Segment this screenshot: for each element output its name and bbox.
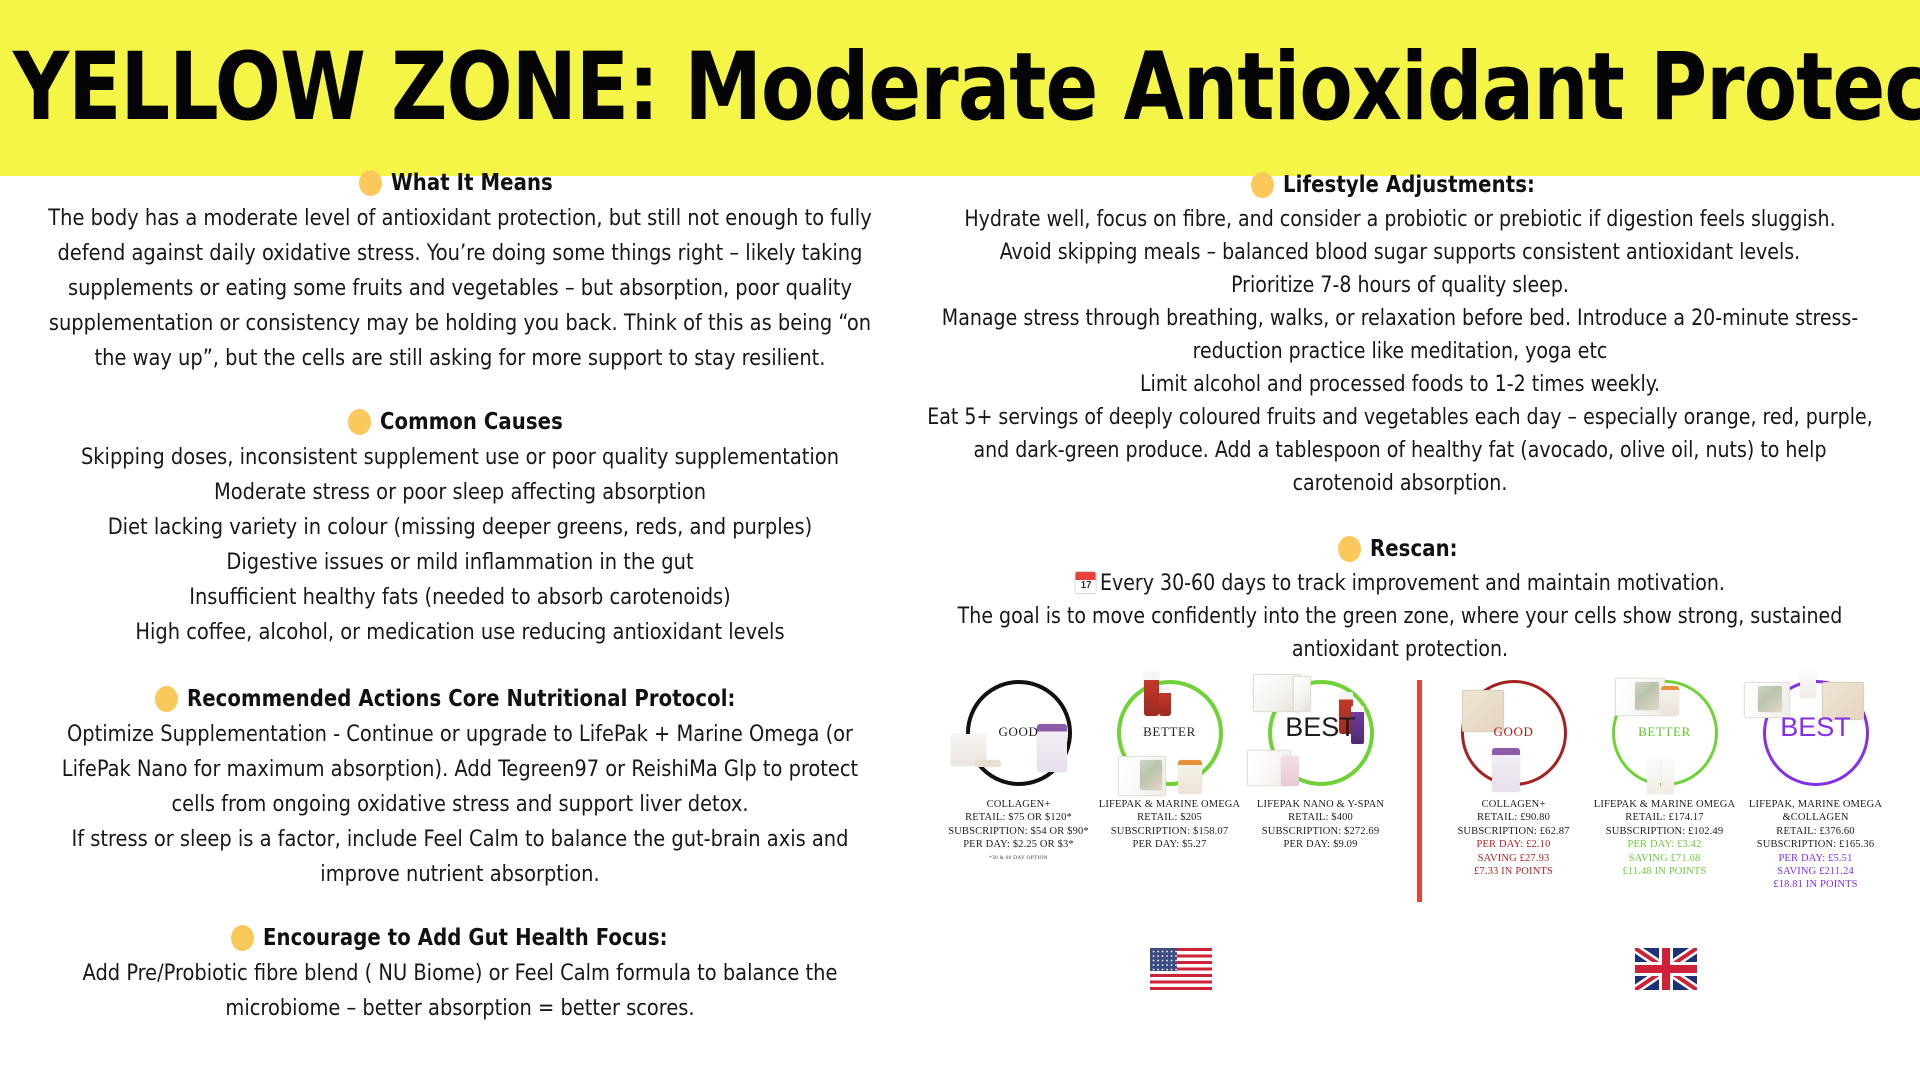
section-title: Encourage to Add Gut Health Focus:	[263, 925, 668, 951]
section-header: Recommended Actions Core Nutritional Pro…	[30, 686, 890, 712]
calendar-day: 17	[1076, 579, 1096, 592]
section-body: 17 Every 30-60 days to track improvement…	[920, 567, 1880, 666]
paragraph: Eat 5+ servings of deeply coloured fruit…	[920, 401, 1880, 500]
product-details: LIFEPAK & MARINE OMEGA RETAIL: $205 SUBS…	[1096, 798, 1243, 852]
section-header: Lifestyle Adjustments:	[900, 172, 1900, 198]
page-title: YELLOW ZONE: Moderate Antioxidant Protec…	[0, 41, 1920, 135]
product-points: £11.48 IN POINTS	[1591, 865, 1738, 878]
paragraph: Hydrate well, focus on fibre, and consid…	[920, 203, 1880, 236]
us-flag-icon	[1150, 948, 1212, 990]
section-rescan: Rescan: 17 Every 30-60 days to track imp…	[900, 536, 1900, 666]
tier-label: BEST	[1247, 712, 1394, 743]
poster-root: YELLOW ZONE: Moderate Antioxidant Protec…	[0, 0, 1920, 1080]
section-title: What It Means	[391, 170, 553, 196]
region-divider	[1417, 680, 1422, 902]
product-card[interactable]: BEST LIFEPAK NANO & Y-SPAN RETAIL: $400 …	[1247, 672, 1394, 865]
product-points: £7.33 IN POINTS	[1440, 865, 1587, 878]
paragraph: Optimize Supplementation - Continue or u…	[47, 717, 873, 822]
product-saving: SAVING £27.93	[1440, 852, 1587, 865]
bullet-dot-icon	[359, 170, 382, 196]
product-retail: RETAIL: $400	[1247, 811, 1394, 824]
tier-label: GOOD	[945, 724, 1092, 740]
paragraph-with-calendar: 17 Every 30-60 days to track improvement…	[920, 567, 1880, 600]
bullet-dot-icon	[348, 409, 371, 435]
paragraph: Prioritize 7-8 hours of quality sleep.	[920, 269, 1880, 302]
right-column: Lifestyle Adjustments: Hydrate well, foc…	[900, 176, 1900, 666]
product-name: LIFEPAK, MARINE OMEGA &COLLAGEN	[1742, 798, 1889, 825]
section-lifestyle-adjustments: Lifestyle Adjustments: Hydrate well, foc…	[900, 172, 1900, 500]
product-subscription: SUBSCRIPTION: $272.69	[1247, 825, 1394, 838]
section-header: Common Causes	[30, 409, 890, 435]
tier-label: GOOD	[1440, 724, 1587, 740]
product-subscription: SUBSCRIPTION: £102.49	[1591, 825, 1738, 838]
product-subscription: SUBSCRIPTION: $158.07	[1096, 825, 1243, 838]
section-body: Skipping doses, inconsistent supplement …	[47, 440, 873, 650]
product-card[interactable]: GOOD COLLAGEN+ RETAIL: $75 OR $120* SUBS…	[945, 672, 1092, 865]
paragraph: Manage stress through breathing, walks, …	[920, 302, 1880, 368]
tier-label: BETTER	[1096, 724, 1243, 740]
product-region-uk: GOOD COLLAGEN+ RETAIL: £90.80 SUBSCRIPTI…	[1440, 672, 1895, 892]
bullet-dot-icon	[155, 686, 178, 712]
bullet-dot-icon	[231, 925, 254, 951]
product-retail: RETAIL: $205	[1096, 811, 1243, 824]
product-subscription: SUBSCRIPTION: £165.36	[1742, 838, 1889, 851]
product-image: BETTER	[1591, 672, 1738, 794]
product-details: LIFEPAK, MARINE OMEGA &COLLAGEN RETAIL: …	[1742, 798, 1889, 892]
product-details: COLLAGEN+ RETAIL: $75 OR $120* SUBSCRIPT…	[945, 798, 1092, 865]
product-name: LIFEPAK NANO & Y-SPAN	[1247, 798, 1394, 811]
left-column: What It Means The body has a moderate le…	[30, 176, 890, 1026]
content-columns: What It Means The body has a moderate le…	[0, 176, 1920, 1080]
paragraph: The body has a moderate level of antioxi…	[47, 201, 873, 376]
paragraph: Moderate stress or poor sleep affecting …	[47, 475, 873, 510]
product-image: BEST	[1742, 672, 1889, 794]
product-card[interactable]: BETTER LIFEPAK & MARINE OMEGA RETAIL: $2…	[1096, 672, 1243, 865]
section-title: Rescan:	[1370, 536, 1458, 562]
product-name: LIFEPAK & MARINE OMEGA	[1096, 798, 1243, 811]
section-body: Hydrate well, focus on fibre, and consid…	[920, 203, 1880, 500]
product-image: BETTER	[1096, 672, 1243, 794]
section-recommended-actions: Recommended Actions Core Nutritional Pro…	[30, 686, 890, 892]
paragraph: Add Pre/Probiotic fibre blend ( NU Biome…	[47, 956, 873, 1026]
section-body: Optimize Supplementation - Continue or u…	[47, 717, 873, 892]
paragraph: Limit alcohol and processed foods to 1-2…	[920, 368, 1880, 401]
product-saving: SAVING £211.24	[1742, 865, 1889, 878]
section-header: Rescan:	[900, 536, 1900, 562]
section-what-it-means: What It Means The body has a moderate le…	[30, 170, 890, 376]
paragraph-text: Every 30-60 days to track improvement an…	[1100, 571, 1725, 596]
product-per-day: PER DAY: $5.27	[1096, 838, 1243, 851]
product-card[interactable]: BETTER LIFEPAK & MARINE OMEGA RETAIL: £1…	[1591, 672, 1738, 892]
section-body: The body has a moderate level of antioxi…	[47, 201, 873, 376]
section-header: What It Means	[30, 170, 890, 196]
section-body: Add Pre/Probiotic fibre blend ( NU Biome…	[47, 956, 873, 1026]
paragraph: Diet lacking variety in colour (missing …	[47, 510, 873, 545]
product-per-day: PER DAY: £2.10	[1440, 838, 1587, 851]
bullet-dot-icon	[1338, 536, 1361, 562]
bullet-dot-icon	[1251, 172, 1274, 198]
product-retail: RETAIL: £174.17	[1591, 811, 1738, 824]
product-per-day: PER DAY: £5.51	[1742, 852, 1889, 865]
section-title: Common Causes	[380, 409, 563, 435]
product-card[interactable]: GOOD COLLAGEN+ RETAIL: £90.80 SUBSCRIPTI…	[1440, 672, 1587, 892]
section-title: Recommended Actions Core Nutritional Pro…	[187, 686, 735, 712]
paragraph: High coffee, alcohol, or medication use …	[47, 615, 873, 650]
product-subscription: SUBSCRIPTION: £62.87	[1440, 825, 1587, 838]
section-header: Encourage to Add Gut Health Focus:	[30, 925, 890, 951]
product-name: COLLAGEN+	[945, 798, 1092, 811]
paragraph: Digestive issues or mild inflammation in…	[47, 545, 873, 580]
product-image: GOOD	[1440, 672, 1587, 794]
paragraph: Avoid skipping meals – balanced blood su…	[920, 236, 1880, 269]
paragraph: The goal is to move confidently into the…	[920, 600, 1880, 666]
product-image: BEST	[1247, 672, 1394, 794]
product-footnote: *30 & 60 DAY OPTION	[945, 852, 1092, 865]
product-retail: RETAIL: £376.60	[1742, 825, 1889, 838]
product-retail: RETAIL: £90.80	[1440, 811, 1587, 824]
product-per-day: PER DAY: $2.25 OR $3*	[945, 838, 1092, 851]
paragraph: Insufficient healthy fats (needed to abs…	[47, 580, 873, 615]
calendar-icon: 17	[1075, 571, 1097, 594]
product-comparison-panel: GOOD COLLAGEN+ RETAIL: $75 OR $120* SUBS…	[945, 672, 1895, 942]
product-details: COLLAGEN+ RETAIL: £90.80 SUBSCRIPTION: £…	[1440, 798, 1587, 878]
product-per-day: PER DAY: £3.42	[1591, 838, 1738, 851]
product-retail: RETAIL: $75 OR $120*	[945, 811, 1092, 824]
section-title: Lifestyle Adjustments:	[1283, 172, 1535, 198]
product-details: LIFEPAK NANO & Y-SPAN RETAIL: $400 SUBSC…	[1247, 798, 1394, 852]
tier-label: BEST	[1742, 712, 1889, 743]
uk-flag-icon	[1635, 948, 1697, 990]
product-subscription: SUBSCRIPTION: $54 OR $90*	[945, 825, 1092, 838]
product-image: GOOD	[945, 672, 1092, 794]
section-common-causes: Common Causes Skipping doses, inconsiste…	[30, 409, 890, 650]
section-gut-health: Encourage to Add Gut Health Focus: Add P…	[30, 925, 890, 1026]
product-region-us: GOOD COLLAGEN+ RETAIL: $75 OR $120* SUBS…	[945, 672, 1400, 865]
product-points: £18.81 IN POINTS	[1742, 878, 1889, 891]
paragraph: Skipping doses, inconsistent supplement …	[47, 440, 873, 475]
header-banner: YELLOW ZONE: Moderate Antioxidant Protec…	[0, 0, 1920, 176]
product-name: COLLAGEN+	[1440, 798, 1587, 811]
paragraph: If stress or sleep is a factor, include …	[47, 822, 873, 892]
product-name: LIFEPAK & MARINE OMEGA	[1591, 798, 1738, 811]
product-saving: SAVING £71.68	[1591, 852, 1738, 865]
product-details: LIFEPAK & MARINE OMEGA RETAIL: £174.17 S…	[1591, 798, 1738, 878]
product-per-day: PER DAY: $9.09	[1247, 838, 1394, 851]
tier-label: BETTER	[1591, 724, 1738, 740]
product-card[interactable]: BEST LIFEPAK, MARINE OMEGA &COLLAGEN RET…	[1742, 672, 1889, 892]
